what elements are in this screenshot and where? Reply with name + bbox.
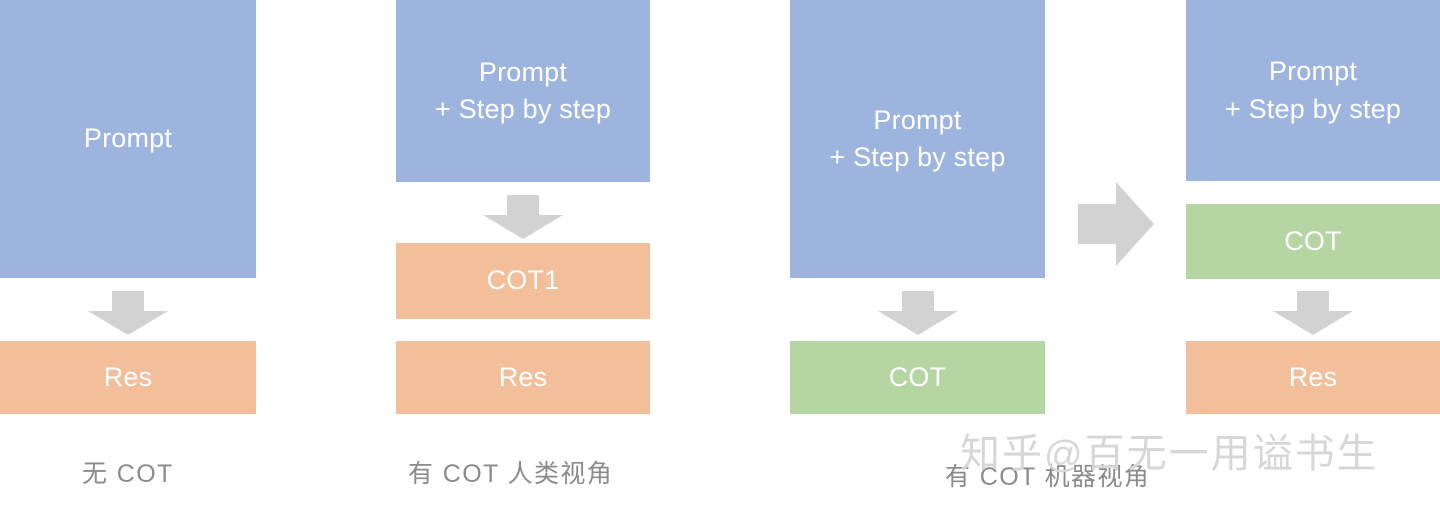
watermark: 知乎@百无一用谥书生 <box>960 421 1379 479</box>
watermark-brand: 知乎 <box>960 432 1044 476</box>
arrow-down-icon-col4 <box>1273 291 1353 335</box>
arrow-down-icon-col3 <box>878 291 958 335</box>
arrow-right-icon <box>1078 182 1154 266</box>
box-res-col1: Res <box>0 341 256 414</box>
caption-col1: 无 COT <box>82 459 174 489</box>
box-res-col2: Res <box>396 341 650 414</box>
arrow-down-icon-col2 <box>483 195 563 239</box>
box-cot1-col2: COT1 <box>396 243 650 319</box>
watermark-at-icon: @ <box>1044 434 1085 476</box>
diagram-canvas: Prompt Res 无 COT Prompt + Step by step C… <box>0 0 1440 514</box>
box-prompt-col1: Prompt <box>0 0 256 278</box>
box-res-col4: Res <box>1186 341 1440 414</box>
watermark-user: 百无一用谥书生 <box>1085 432 1379 476</box>
box-prompt-step-col3: Prompt + Step by step <box>790 0 1045 278</box>
arrow-down-icon-col1 <box>88 291 168 335</box>
box-cot-col4: COT <box>1186 204 1440 279</box>
box-prompt-step-col2: Prompt + Step by step <box>396 0 650 182</box>
caption-col2: 有 COT 人类视角 <box>408 459 613 489</box>
box-prompt-step-col4: Prompt + Step by step <box>1186 0 1440 181</box>
box-cot-col3: COT <box>790 341 1045 414</box>
